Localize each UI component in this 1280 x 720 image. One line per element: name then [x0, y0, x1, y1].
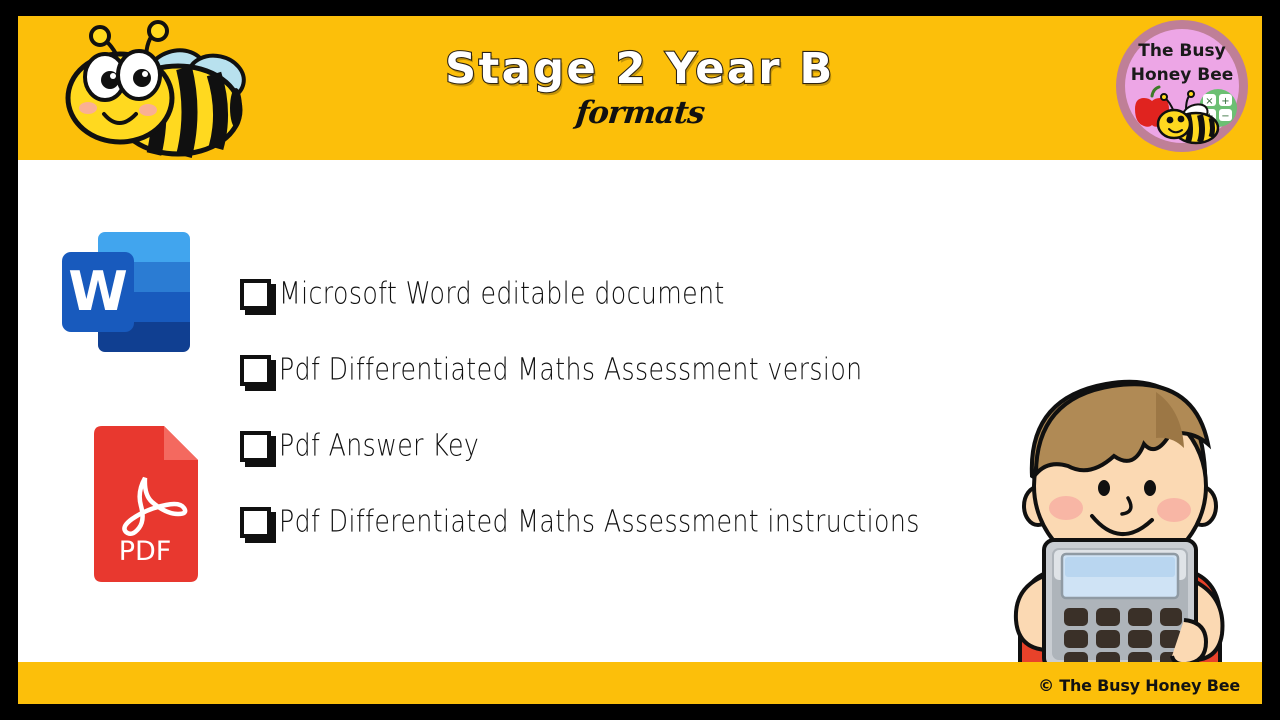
brand-logo[interactable]: The Busy Honey Bee × + ÷ − — [1112, 16, 1252, 156]
checklist-item[interactable]: Microsoft Word editable document — [238, 256, 1028, 332]
slide: Stage 2 Year B formats The Busy Honey Be… — [0, 0, 1280, 720]
word-letter: W — [68, 260, 128, 323]
bee-mascot-icon — [58, 20, 258, 160]
pdf-file-icon: PDF — [84, 424, 206, 584]
checklist-item[interactable]: Pdf Differentiated Maths Assessment inst… — [238, 484, 1028, 560]
checkbox-icon[interactable] — [240, 431, 271, 462]
slide-page: Stage 2 Year B formats The Busy Honey Be… — [18, 16, 1262, 704]
math-symbol-plus: + — [1221, 96, 1229, 107]
checklist-item-label: Microsoft Word editable document — [279, 276, 725, 311]
checklist-item[interactable]: Pdf Differentiated Maths Assessment vers… — [238, 332, 1028, 408]
checkbox-icon[interactable] — [240, 279, 271, 310]
math-symbol-minus: − — [1221, 111, 1229, 122]
checklist-item-label: Pdf Answer Key — [279, 428, 479, 463]
formats-checklist: Microsoft Word editable document Pdf Dif… — [238, 256, 1028, 560]
copyright-text: © The Busy Honey Bee — [1038, 676, 1240, 695]
checklist-item[interactable]: Pdf Answer Key — [238, 408, 1028, 484]
checkbox-icon[interactable] — [240, 355, 271, 386]
checklist-item-label: Pdf Differentiated Maths Assessment inst… — [279, 504, 920, 539]
microsoft-word-icon: W — [56, 228, 194, 356]
checkbox-icon[interactable] — [240, 507, 271, 538]
math-symbol-multiply: × — [1205, 96, 1213, 107]
logo-line-2: Honey Bee — [1131, 65, 1234, 85]
pdf-label: PDF — [119, 536, 172, 567]
boy-with-calculator-illustration — [988, 358, 1256, 670]
logo-line-1: The Busy — [1138, 41, 1225, 61]
checklist-item-label: Pdf Differentiated Maths Assessment vers… — [279, 352, 863, 387]
